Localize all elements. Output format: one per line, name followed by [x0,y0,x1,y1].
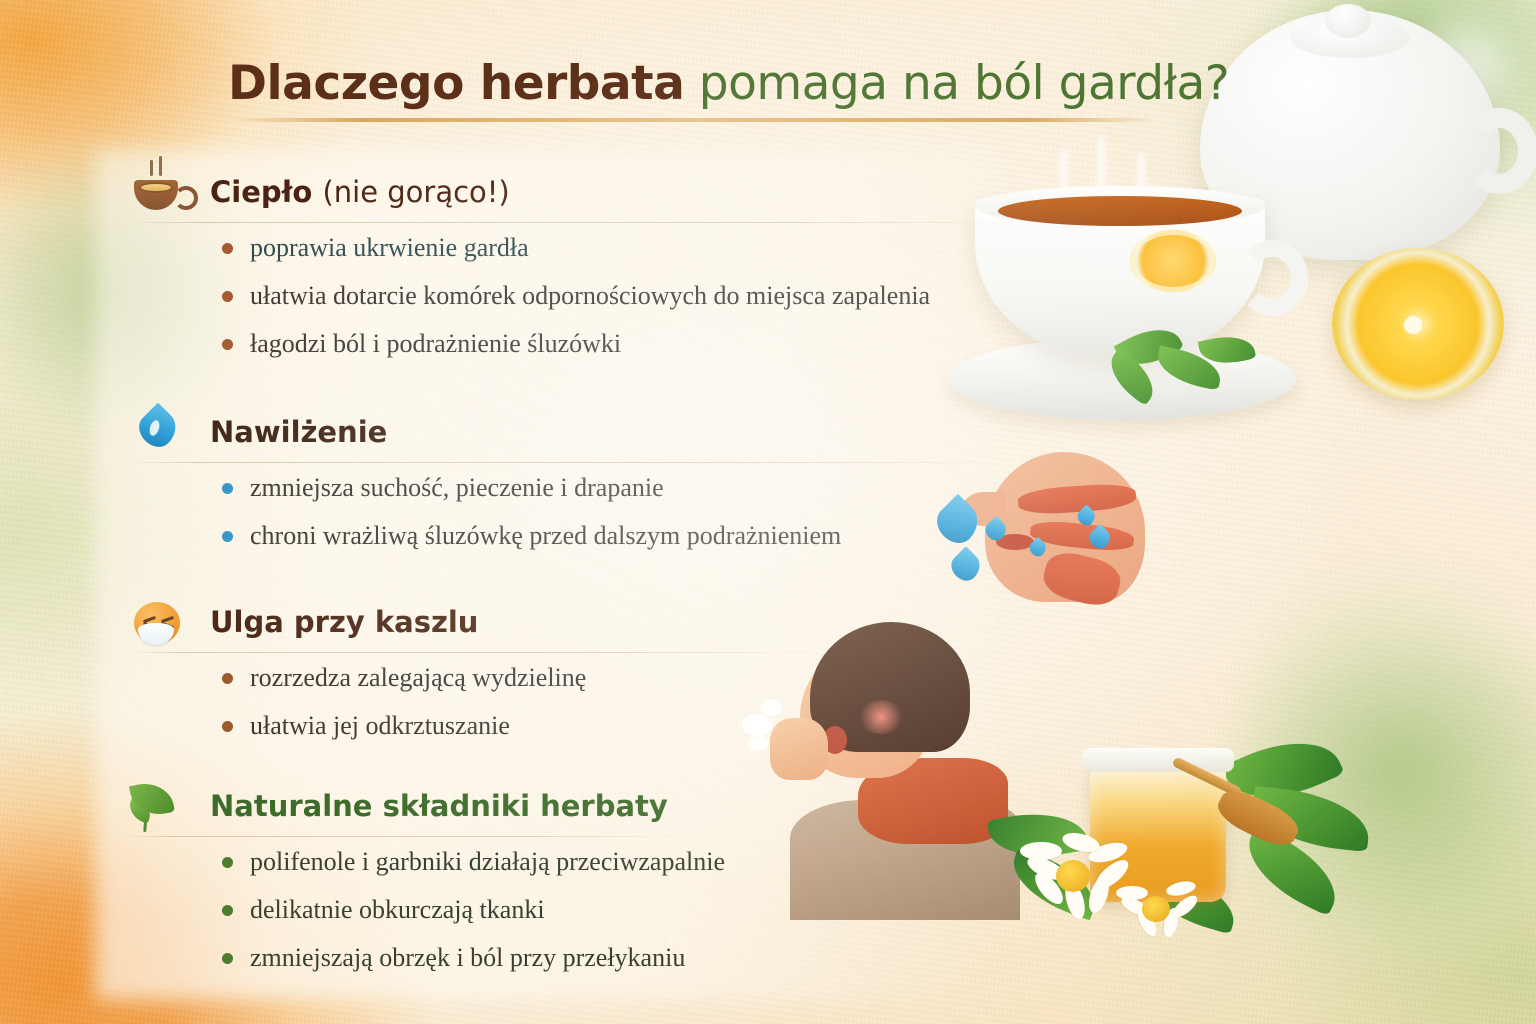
list-item: zmniejsza suchość, pieczenie i drapanie [220,474,841,502]
bullet-text: polifenole i garbniki działają przeciwza… [250,847,725,876]
bullet-text: chroni wrażliwą śluzówkę przed dalszym p… [250,521,841,550]
list-item: rozrzedza zalegającą wydzielinę [220,664,586,692]
bullet-text: ułatwia jej odkrztuszanie [250,711,510,740]
bullet-text: poprawia ukrwienie gardła [250,233,529,262]
list-item: łagodzi ból i podrażnienie śluzówki [220,330,930,358]
bullet-text: delikatnie obkurczają tkanki [250,895,545,924]
list-item: zmniejszają obrzęk i ból przy przełykani… [220,944,725,972]
bullet-text: zmniejsza suchość, pieczenie i drapanie [250,473,664,502]
title-part-primary: Dlaczego herbata [228,56,684,111]
list-item: chroni wrażliwą śluzówkę przed dalszym p… [220,522,841,550]
section-subtitle-cieplo: (nie gorąco!) [322,175,509,209]
water-droplet-icon [128,406,190,464]
bullet-text: łagodzi ból i podrażnienie śluzówki [250,329,621,358]
bullet-text: ułatwia dotarcie komórek odpornościowych… [250,281,930,310]
bullet-text: rozrzedza zalegającą wydzielinę [250,663,586,692]
green-leaf-icon [128,780,190,838]
sneezing-face-icon [128,596,190,654]
list-item: ułatwia dotarcie komórek odpornościowych… [220,282,930,310]
section-title-cieplo: Ciepło [210,175,312,209]
section-title-nawilzenie: Nawilżenie [210,415,387,449]
title-divider [228,118,1158,122]
bullet-text: zmniejszają obrzęk i ból przy przełykani… [250,943,685,972]
section-title-ulga: Ulga przy kaszlu [210,605,478,639]
teacup-icon [128,166,190,224]
list-item: delikatnie obkurczają tkanki [220,896,725,924]
title-part-secondary: pomaga na ból gardła? [699,56,1229,111]
list-item: ułatwia jej odkrztuszanie [220,712,586,740]
infographic-poster: Dlaczego herbata pomaga na ból gardła? C… [0,0,1536,1024]
list-item: poprawia ukrwienie gardła [220,234,930,262]
list-item: polifenole i garbniki działają przeciwza… [220,848,725,876]
section-title-naturalne: Naturalne składniki herbaty [210,789,668,823]
